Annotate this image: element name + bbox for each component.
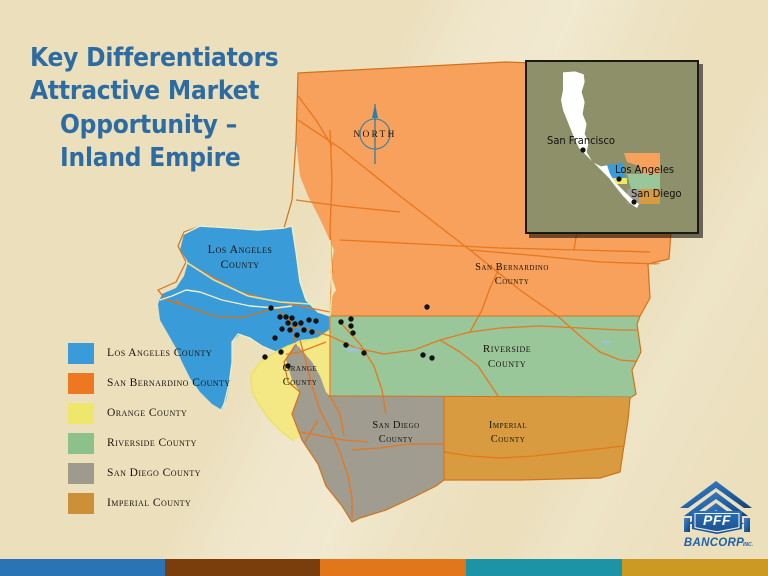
bar-segment-blue (0, 559, 165, 576)
branch-dot (268, 305, 273, 310)
label-imperial-line1: Imperial (489, 420, 527, 431)
label-los-angeles-line1: Los Angeles (208, 242, 273, 256)
branch-dot (429, 355, 434, 360)
county-shape-imperial[interactable] (444, 396, 630, 480)
bottom-color-bar (0, 559, 768, 576)
logo-wordmark-text: BANCORP (684, 537, 744, 549)
branch-dot (285, 320, 290, 325)
legend-swatch-icon (68, 433, 94, 454)
legend-item-imperial-county[interactable]: Imperial County (68, 490, 231, 516)
title-line-2: Attractive Market (30, 75, 280, 108)
branch-dot (309, 329, 314, 334)
branch-dot (277, 314, 282, 319)
legend-item-san-diego-county[interactable]: San Diego County (68, 460, 231, 486)
branch-dot (279, 326, 284, 331)
compass-label: NORTH (353, 130, 396, 140)
legend-item-orange-county[interactable]: Orange County (68, 400, 231, 426)
label-san-diego-line2: County (379, 434, 414, 445)
legend-item-los-angeles-county[interactable]: Los Angeles County (68, 340, 231, 366)
branch-dot (348, 323, 353, 328)
branch-dot (272, 335, 277, 340)
branch-dot (289, 315, 294, 320)
title-line-3: Opportunity – (30, 109, 280, 142)
inset-label-san-diego: San Diego (631, 187, 682, 200)
legend-item-riverside-county[interactable]: Riverside County (68, 430, 231, 456)
branch-dot (294, 332, 299, 337)
bar-segment-brown (165, 559, 320, 576)
logo-wordmark-suffix: INC. (743, 542, 753, 548)
slide-canvas: NORTH Los Angeles County San Bernardino … (0, 0, 768, 576)
logo-wordmark: BANCORP INC. (684, 537, 753, 549)
branch-dot (338, 319, 343, 324)
branch-dot (287, 327, 292, 332)
branch-dot (420, 352, 425, 357)
legend-swatch-icon (68, 463, 94, 484)
legend-swatch-icon (68, 343, 94, 364)
map-legend: Los Angeles County San Bernardino County… (68, 340, 231, 520)
label-los-angeles-line2: County (221, 257, 260, 271)
branch-dot (283, 314, 288, 319)
title-line-1: Key Differentiators (30, 42, 280, 75)
inset-label-san-francisco: San Francisco (547, 134, 615, 147)
branch-dot (301, 327, 306, 332)
legend-swatch-icon (68, 403, 94, 424)
logo-pff-banner: PFF (692, 511, 742, 534)
label-san-bernardino-line2: County (495, 276, 530, 287)
california-inset-map[interactable]: San Francisco Los Angeles San Diego (525, 60, 699, 234)
legend-swatch-icon (68, 373, 94, 394)
label-imperial-line2: County (491, 434, 526, 445)
pff-bancorp-logo[interactable]: PFF BANCORP INC. (676, 478, 758, 550)
city-dot-san-francisco (580, 147, 585, 152)
branch-dot (298, 320, 303, 325)
legend-item-san-bernardino-county[interactable]: San Bernardino County (68, 370, 231, 396)
branch-dot (343, 342, 348, 347)
logo-mark-text: PFF (703, 512, 731, 528)
branch-dot (262, 354, 267, 359)
branch-dot (424, 304, 429, 309)
branch-dot (361, 350, 366, 355)
label-san-diego-line1: San Diego (372, 420, 419, 431)
label-riverside-line1: Riverside (483, 343, 531, 355)
branch-dot (348, 316, 353, 321)
city-dot-san-diego (631, 199, 636, 204)
logo-svg: PFF BANCORP INC. (676, 478, 758, 550)
bar-segment-gold (622, 559, 768, 576)
slide-title: Key Differentiators Attractive Market Op… (30, 42, 280, 175)
branch-dot (306, 317, 311, 322)
legend-label: Orange County (107, 407, 187, 419)
legend-label: San Diego County (107, 467, 201, 479)
inset-svg: San Francisco Los Angeles San Diego (527, 62, 693, 228)
branch-dot (350, 330, 355, 335)
title-line-4: Inland Empire (30, 142, 280, 175)
city-dot-los-angeles (616, 176, 621, 181)
inset-label-los-angeles: Los Angeles (615, 163, 674, 176)
label-san-bernardino-line1: San Bernardino (475, 262, 549, 273)
branch-dot (278, 349, 283, 354)
branch-dot (292, 321, 297, 326)
legend-label: Los Angeles County (107, 347, 212, 359)
bar-segment-teal (466, 559, 622, 576)
legend-label: San Bernardino County (107, 377, 231, 389)
branch-dot (285, 363, 290, 368)
label-orange-line2: County (283, 377, 318, 388)
legend-swatch-icon (68, 493, 94, 514)
branch-dot (313, 318, 318, 323)
bar-segment-orange (320, 559, 466, 576)
legend-label: Riverside County (107, 437, 197, 449)
legend-label: Imperial County (107, 497, 191, 509)
label-riverside-line2: County (488, 358, 526, 370)
